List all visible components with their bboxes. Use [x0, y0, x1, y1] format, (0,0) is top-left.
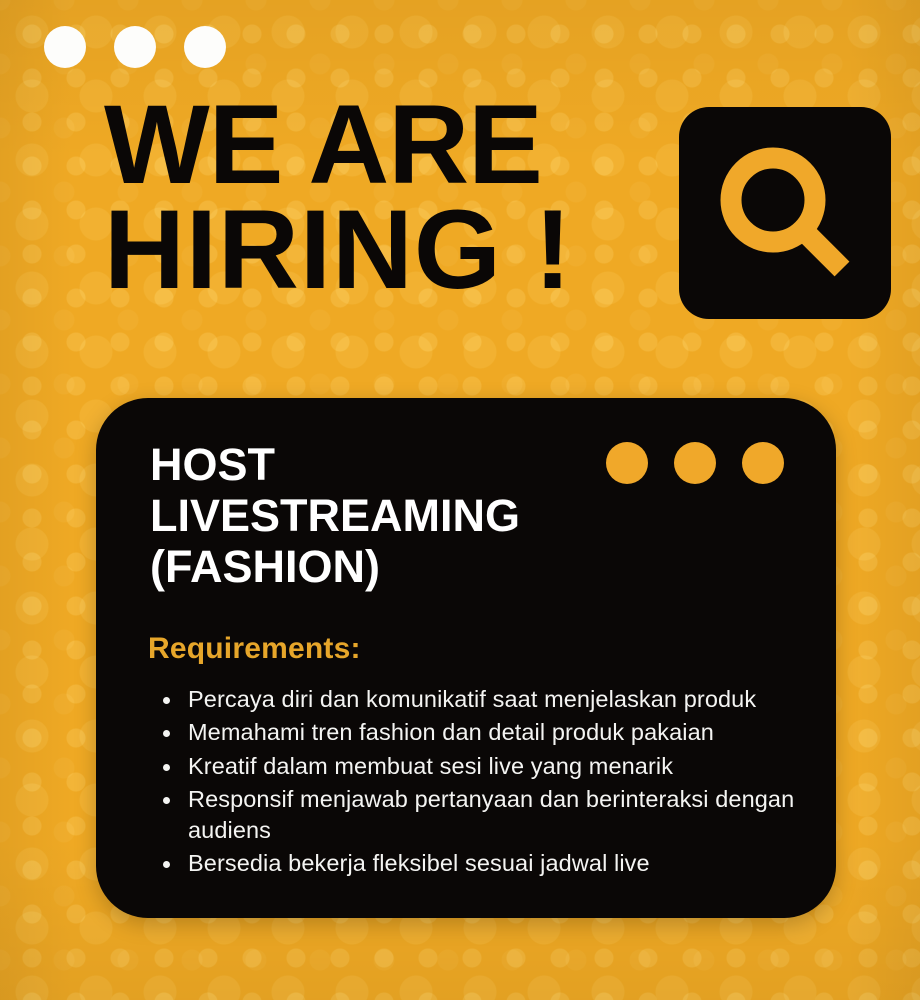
search-icon — [710, 138, 860, 288]
requirement-item: Kreatif dalam membuat sesi live yang men… — [154, 751, 804, 782]
requirement-item: Percaya diri dan komunikatif saat menjel… — [154, 684, 804, 715]
search-badge — [679, 107, 891, 319]
requirements-label: Requirements: — [148, 632, 361, 666]
job-title: HOST LIVESTREAMING (FASHION) — [150, 440, 620, 593]
card-window-dot-icon — [742, 442, 784, 484]
job-title-line-3: (FASHION) — [150, 542, 620, 593]
requirement-item: Bersedia bekerja fleksibel sesuai jadwal… — [154, 848, 804, 879]
requirement-item: Responsif menjawab pertanyaan dan berint… — [154, 784, 804, 847]
card-window-dots — [606, 442, 784, 484]
job-card: HOST LIVESTREAMING (FASHION) Requirement… — [96, 398, 836, 918]
hiring-poster: WE ARE HIRING ! HOST LIVESTREAMING — [0, 0, 920, 1000]
top-window-dots — [44, 26, 226, 68]
requirement-item: Memahami tren fashion dan detail produk … — [154, 717, 804, 748]
job-title-line-2: LIVESTREAMING — [150, 491, 620, 542]
requirements-list: Percaya diri dan komunikatif saat menjel… — [154, 684, 804, 882]
window-dot-icon — [44, 26, 86, 68]
window-dot-icon — [114, 26, 156, 68]
job-title-line-1: HOST — [150, 440, 620, 491]
window-dot-icon — [184, 26, 226, 68]
card-window-dot-icon — [674, 442, 716, 484]
poster-content: WE ARE HIRING ! HOST LIVESTREAMING — [0, 0, 920, 1000]
